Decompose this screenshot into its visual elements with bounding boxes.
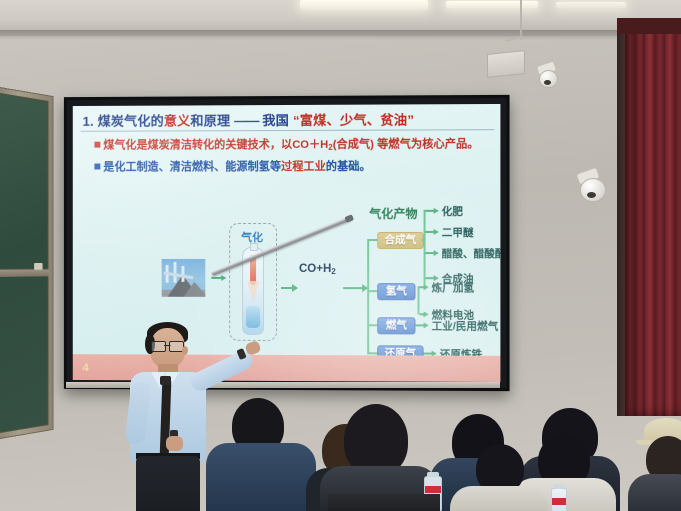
ceiling-light	[556, 2, 626, 8]
curtain-edge	[617, 18, 625, 416]
bullet-item-1: 煤气化是煤炭清洁转化的关键技术，以CO＋H2(合成气) 等燃气为核心产品。	[94, 139, 478, 152]
leaf-dme: 二甲醚	[442, 225, 474, 240]
syngas-stub	[422, 239, 426, 241]
bullet-2-text-a: 是化工制造、清洁燃料、能源制氢等	[103, 161, 281, 173]
title-dash: ——	[234, 113, 258, 128]
student-jacket	[206, 443, 316, 511]
arrow-leaf-icon	[426, 252, 438, 254]
vessel-flow-cone	[247, 281, 259, 303]
leaf-acetic-acid: 醋酸、醋酸酐	[442, 246, 501, 261]
stream-label-text: CO+H	[299, 263, 331, 275]
student-jacket	[628, 474, 681, 511]
slide-title: 1. 煤炭气化的意义和原理 —— 我国 “富煤、少气、贫油”	[83, 109, 495, 130]
arrow-leaf-icon	[420, 286, 428, 288]
arrow-leaf-icon	[426, 277, 438, 279]
syngas-riser	[424, 210, 426, 286]
bullet-2-highlight: 过程工业	[281, 161, 326, 173]
bullet-square-icon	[94, 164, 100, 170]
title-quoted: “富煤、少气、贫油”	[293, 112, 414, 128]
node-fuel-gas: 燃气	[377, 317, 415, 334]
leaf-refinery-hydrogenation: 炼厂加氢	[432, 280, 474, 295]
arrow-coal-to-gasifier-icon	[211, 277, 225, 279]
ceiling-shadow	[0, 30, 681, 40]
glasses-icon	[151, 341, 184, 350]
node-syngas: 合成气	[377, 232, 423, 249]
lecturer-trousers	[136, 456, 200, 511]
wall-vent	[487, 50, 525, 78]
bullet-square-icon	[94, 142, 100, 148]
ceiling-light	[300, 0, 428, 9]
bottle-cap	[427, 472, 439, 477]
coal-mine-photo	[162, 259, 206, 297]
arrow-to-products-icon	[343, 287, 367, 289]
camera-lens	[544, 80, 551, 85]
title-index: 1.	[83, 114, 94, 129]
title-part3: 我国	[262, 113, 289, 128]
title-highlight: 意义	[164, 113, 191, 128]
arrow-leaf-icon	[415, 324, 427, 326]
title-underline	[81, 129, 495, 132]
stream-label-sub: 2	[331, 267, 335, 276]
blackboard-divider	[0, 269, 48, 277]
blackboard-clip	[34, 263, 42, 270]
vessel-base	[246, 306, 260, 328]
camera-dome	[539, 70, 558, 88]
node-hydrogen: 氢气	[377, 283, 415, 300]
arrow-leaf-icon	[420, 313, 428, 315]
camera-dome	[580, 178, 606, 202]
bullet-1-text-a: 煤气化是煤炭清洁转化的关键技术，以CO＋H	[103, 139, 328, 152]
bullet-2-text-b: 的基础。	[326, 161, 371, 173]
bullet-1-text-b: (合成气) 等燃气为核心产品。	[333, 138, 479, 151]
title-part2: 和原理	[190, 113, 230, 128]
vessel-neck	[250, 243, 258, 251]
bottle-cap	[554, 484, 564, 489]
lecturer-ear	[182, 346, 188, 355]
lecture-photo: 1. 煤炭气化的意义和原理 —— 我国 “富煤、少气、贫油” 煤气化是煤炭清洁转…	[0, 0, 681, 511]
bottle-label	[552, 498, 566, 505]
projector-mount-rod	[520, 0, 522, 40]
arrow-leaf-icon	[424, 353, 436, 355]
title-part1: 煤炭气化的	[98, 114, 164, 129]
arrow-gasifier-out-icon	[281, 287, 297, 289]
leaf-industrial-civil-gas: 工业/民用燃气	[432, 318, 499, 333]
student-jacket	[450, 486, 548, 511]
curtain	[625, 18, 681, 416]
camera-lens	[587, 192, 596, 198]
window-curtain-area	[617, 18, 681, 416]
tree-trunk	[367, 239, 369, 354]
blackboard	[0, 86, 53, 440]
ceiling-light	[446, 1, 538, 8]
lecturer-lowered-hand	[166, 436, 183, 451]
slide-page-number: 4	[83, 362, 89, 374]
desk-edge	[328, 494, 440, 511]
leaf-fertilizer: 化肥	[442, 204, 463, 219]
arrow-leaf-icon	[426, 210, 438, 212]
hydrogen-riser	[417, 286, 419, 314]
necktie-knot	[160, 376, 171, 385]
glasses-lens	[151, 341, 166, 352]
products-title: 气化产物	[369, 205, 417, 222]
curtain-rail	[617, 18, 681, 34]
bullet-item-2: 是化工制造、清洁燃料、能源制氢等过程工业的基础。	[94, 162, 370, 174]
stream-label-co-h2: CO+H2	[299, 263, 336, 276]
water-bottle	[551, 488, 567, 511]
bottle-label	[425, 486, 441, 493]
arrow-leaf-icon	[426, 231, 438, 233]
coal-pile-2	[183, 282, 205, 297]
